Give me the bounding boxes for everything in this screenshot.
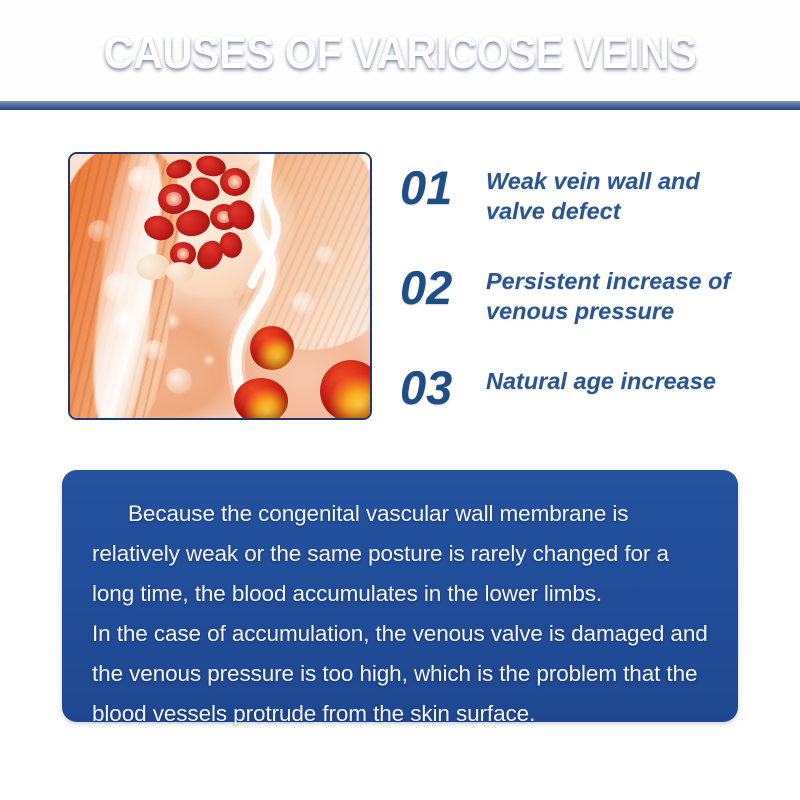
cause-label: Persistent increase of venous pressure xyxy=(486,264,736,326)
blood-cell-pale xyxy=(166,262,194,282)
bokeh-highlight xyxy=(144,340,164,360)
cause-label: Natural age increase xyxy=(486,364,716,397)
cause-item-03: 03 Natural age increase xyxy=(400,364,716,411)
vein-illustration xyxy=(68,152,372,420)
explanation-text: Because the congenital vascular wall mem… xyxy=(92,494,710,734)
cause-number: 03 xyxy=(400,364,486,411)
bokeh-highlight xyxy=(128,166,154,192)
bokeh-highlight xyxy=(104,272,134,302)
page-title: CAUSES OF VARICOSE VEINS xyxy=(32,0,768,101)
bokeh-highlight xyxy=(166,368,192,394)
bokeh-highlight xyxy=(114,310,138,334)
explanation-panel: Because the congenital vascular wall mem… xyxy=(62,470,738,722)
cause-item-02: 02 Persistent increase of venous pressur… xyxy=(400,264,736,326)
blood-sphere xyxy=(320,360,372,420)
bokeh-highlight xyxy=(316,246,334,264)
blood-sphere xyxy=(234,378,288,420)
cause-number: 01 xyxy=(400,164,486,211)
cause-item-01: 01 Weak vein wall and valve defect xyxy=(400,164,736,226)
bokeh-highlight xyxy=(88,220,110,242)
blood-cell xyxy=(220,168,250,196)
blood-cell xyxy=(158,184,190,214)
cause-label: Weak vein wall and valve defect xyxy=(486,164,736,226)
bokeh-highlight xyxy=(292,292,314,314)
blood-sphere xyxy=(250,326,294,370)
cause-number: 02 xyxy=(400,264,486,311)
header-banner: CAUSES OF VARICOSE VEINS xyxy=(0,0,800,110)
